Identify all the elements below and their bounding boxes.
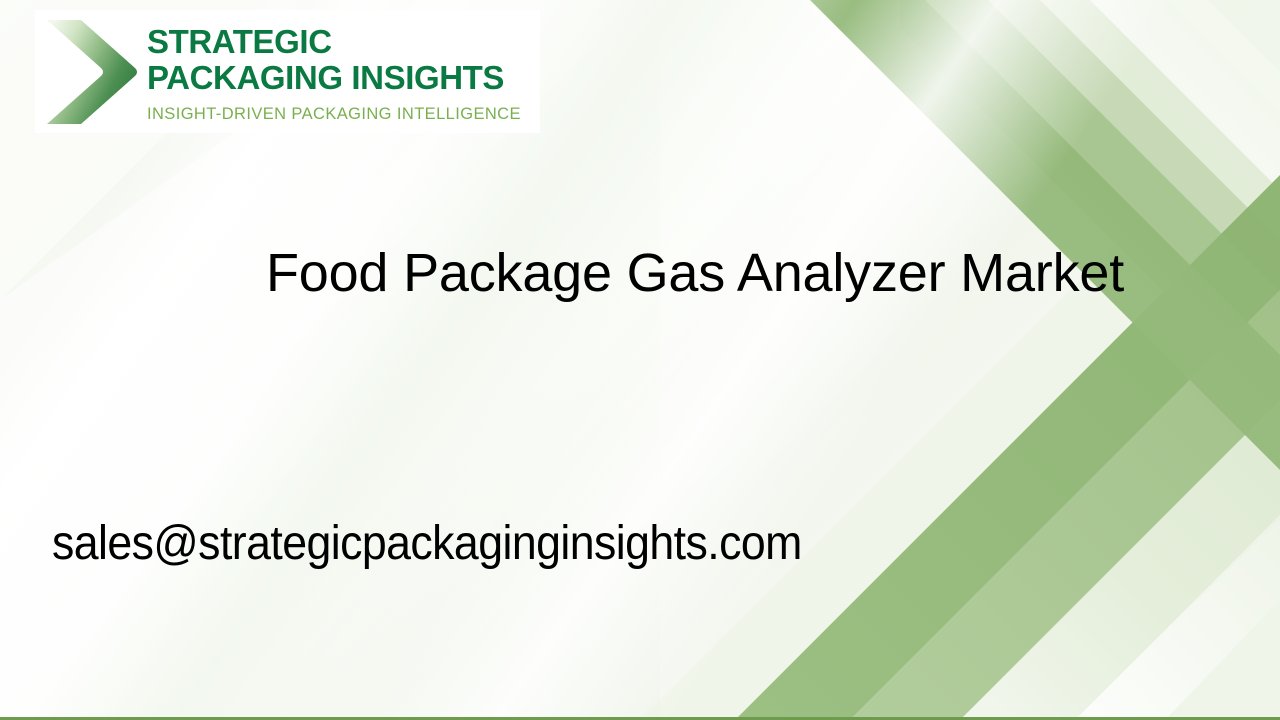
- logo-tagline: INSIGHT-DRIVEN PACKAGING INTELLIGENCE: [147, 105, 521, 123]
- logo-lockup[interactable]: STRATEGIC PACKAGING INSIGHTS INSIGHT-DRI…: [35, 10, 540, 133]
- logo-line-2: PACKAGING INSIGHTS: [147, 60, 521, 96]
- logo-text-block: STRATEGIC PACKAGING INSIGHTS INSIGHT-DRI…: [147, 20, 521, 123]
- chevron-arrow-icon: [41, 18, 139, 126]
- contact-email[interactable]: sales@strategicpackaginginsights.com: [52, 516, 802, 572]
- title-slide: STRATEGIC PACKAGING INSIGHTS INSIGHT-DRI…: [0, 0, 1280, 720]
- logo-line-1: STRATEGIC: [147, 24, 521, 60]
- page-title: Food Package Gas Analyzer Market: [215, 248, 1175, 298]
